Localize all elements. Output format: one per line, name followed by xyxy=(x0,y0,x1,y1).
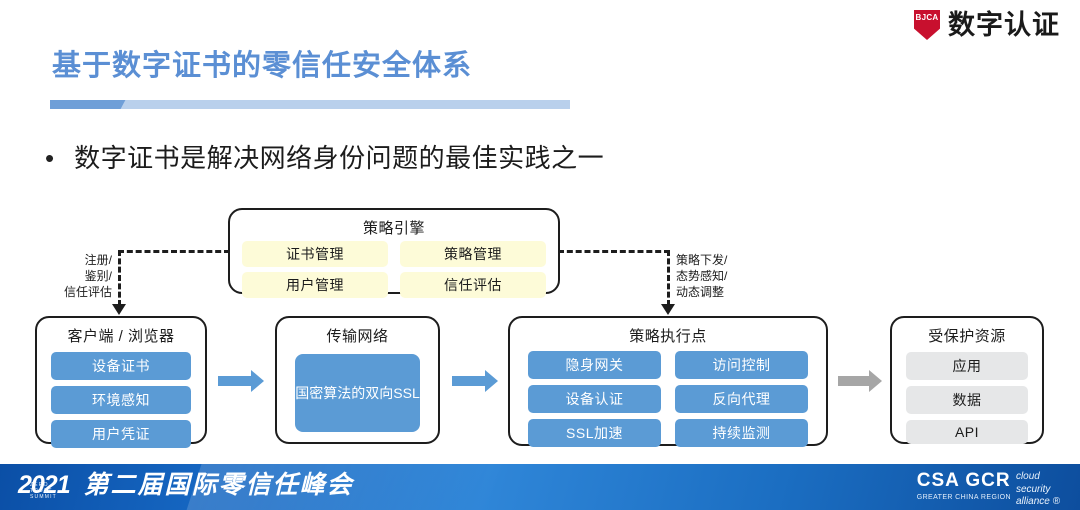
slide-root: BJCA 数字认证 基于数字证书的零信任安全体系 • 数字证书是解决网络身份问题… xyxy=(0,0,1080,510)
csa-main-label: CSA GCR xyxy=(917,471,1011,490)
node-policy-engine: 策略引擎 证书管理 策略管理 用户管理 信任评估 xyxy=(228,208,560,294)
brand-logo: BJCA 数字认证 xyxy=(914,10,1060,40)
note-left-line: 信任评估 xyxy=(28,284,112,300)
dashed-line-left-vertical xyxy=(118,250,121,306)
pep-item: 设备认证 xyxy=(528,385,661,413)
arrow-network-to-pep xyxy=(452,370,498,392)
note-right-line: 动态调整 xyxy=(676,284,786,300)
dashed-line-right-vertical xyxy=(667,250,670,306)
bullet-row: • 数字证书是解决网络身份问题的最佳实践之一 xyxy=(45,138,604,175)
arrow-pep-to-resource xyxy=(838,370,882,392)
client-item: 环境感知 xyxy=(51,386,191,414)
slide-footer: 2021 ZERO TRUST SUMMIT 第二届国际零信任峰会 CSA GC… xyxy=(0,464,1080,510)
resource-item: 应用 xyxy=(906,352,1028,380)
network-title: 传输网络 xyxy=(277,325,438,346)
csa-tagline-line: security xyxy=(1016,484,1060,497)
brand-name: 数字认证 xyxy=(948,12,1060,39)
node-transport-network: 传输网络 国密算法的双向SSL xyxy=(275,316,440,444)
csa-main-block: CSA GCR GREATER CHINA REGION xyxy=(917,471,1011,501)
pep-item: 反向代理 xyxy=(675,385,808,413)
pep-item: 隐身网关 xyxy=(528,351,661,379)
footer-event-branding: 2021 ZERO TRUST SUMMIT 第二届国际零信任峰会 xyxy=(18,469,354,502)
event-year-mark: 2021 ZERO TRUST SUMMIT xyxy=(18,473,70,498)
title-underline-rule xyxy=(50,100,570,109)
note-left-line: 注册/ xyxy=(28,252,112,268)
network-item: 国密算法的双向SSL xyxy=(295,354,420,432)
pep-item: SSL加速 xyxy=(528,419,661,447)
resource-item: API xyxy=(906,420,1028,444)
policy-engine-item: 策略管理 xyxy=(400,241,546,267)
note-left-line: 鉴别/ xyxy=(28,268,112,284)
policy-engine-item: 用户管理 xyxy=(242,272,388,298)
bullet-text: 数字证书是解决网络身份问题的最佳实践之一 xyxy=(74,138,604,175)
event-name: 第二届国际零信任峰会 xyxy=(84,469,354,502)
bullet-marker: • xyxy=(45,145,54,171)
node-protected-resource: 受保护资源 应用 数据 API xyxy=(890,316,1044,444)
arrow-client-to-network xyxy=(218,370,264,392)
note-left: 注册/ 鉴别/ 信任评估 xyxy=(28,252,112,301)
csa-region-label: GREATER CHINA REGION xyxy=(917,494,1011,501)
csa-tagline: cloud security alliance ® xyxy=(1016,471,1060,509)
dashed-arrow-head-right xyxy=(661,304,675,315)
dashed-line-left-horizontal xyxy=(118,250,230,253)
event-year-subtitle: ZERO TRUST SUMMIT xyxy=(30,482,70,500)
policy-engine-title: 策略引擎 xyxy=(230,217,558,238)
node-client-browser: 客户端 / 浏览器 设备证书 环境感知 用户凭证 xyxy=(35,316,207,444)
pep-item: 访问控制 xyxy=(675,351,808,379)
csa-gcr-logo: CSA GCR GREATER CHINA REGION cloud secur… xyxy=(917,471,1060,509)
client-item: 用户凭证 xyxy=(51,420,191,448)
bjca-shield-icon: BJCA xyxy=(914,10,940,40)
csa-tagline-line: alliance ® xyxy=(1016,496,1060,509)
dashed-arrow-head-left xyxy=(112,304,126,315)
resource-title: 受保护资源 xyxy=(892,325,1042,346)
page-title: 基于数字证书的零信任安全体系 xyxy=(52,42,472,84)
csa-tagline-line: cloud xyxy=(1016,471,1060,484)
architecture-diagram: 策略引擎 证书管理 策略管理 用户管理 信任评估 注册/ 鉴别/ 信任评估 策略… xyxy=(0,196,1080,458)
pep-title: 策略执行点 xyxy=(510,325,826,346)
node-policy-enforcement-point: 策略执行点 隐身网关 访问控制 设备认证 反向代理 SSL加速 持续监测 xyxy=(508,316,828,446)
policy-engine-item: 信任评估 xyxy=(400,272,546,298)
client-title: 客户端 / 浏览器 xyxy=(37,325,205,346)
client-item: 设备证书 xyxy=(51,352,191,380)
pep-item: 持续监测 xyxy=(675,419,808,447)
note-right-line: 态势感知/ xyxy=(676,268,786,284)
dashed-line-right-horizontal xyxy=(558,250,670,253)
policy-engine-item: 证书管理 xyxy=(242,241,388,267)
bjca-badge-label: BJCA xyxy=(914,13,940,22)
resource-item: 数据 xyxy=(906,386,1028,414)
note-right-line: 策略下发/ xyxy=(676,252,786,268)
note-right: 策略下发/ 态势感知/ 动态调整 xyxy=(676,252,786,301)
